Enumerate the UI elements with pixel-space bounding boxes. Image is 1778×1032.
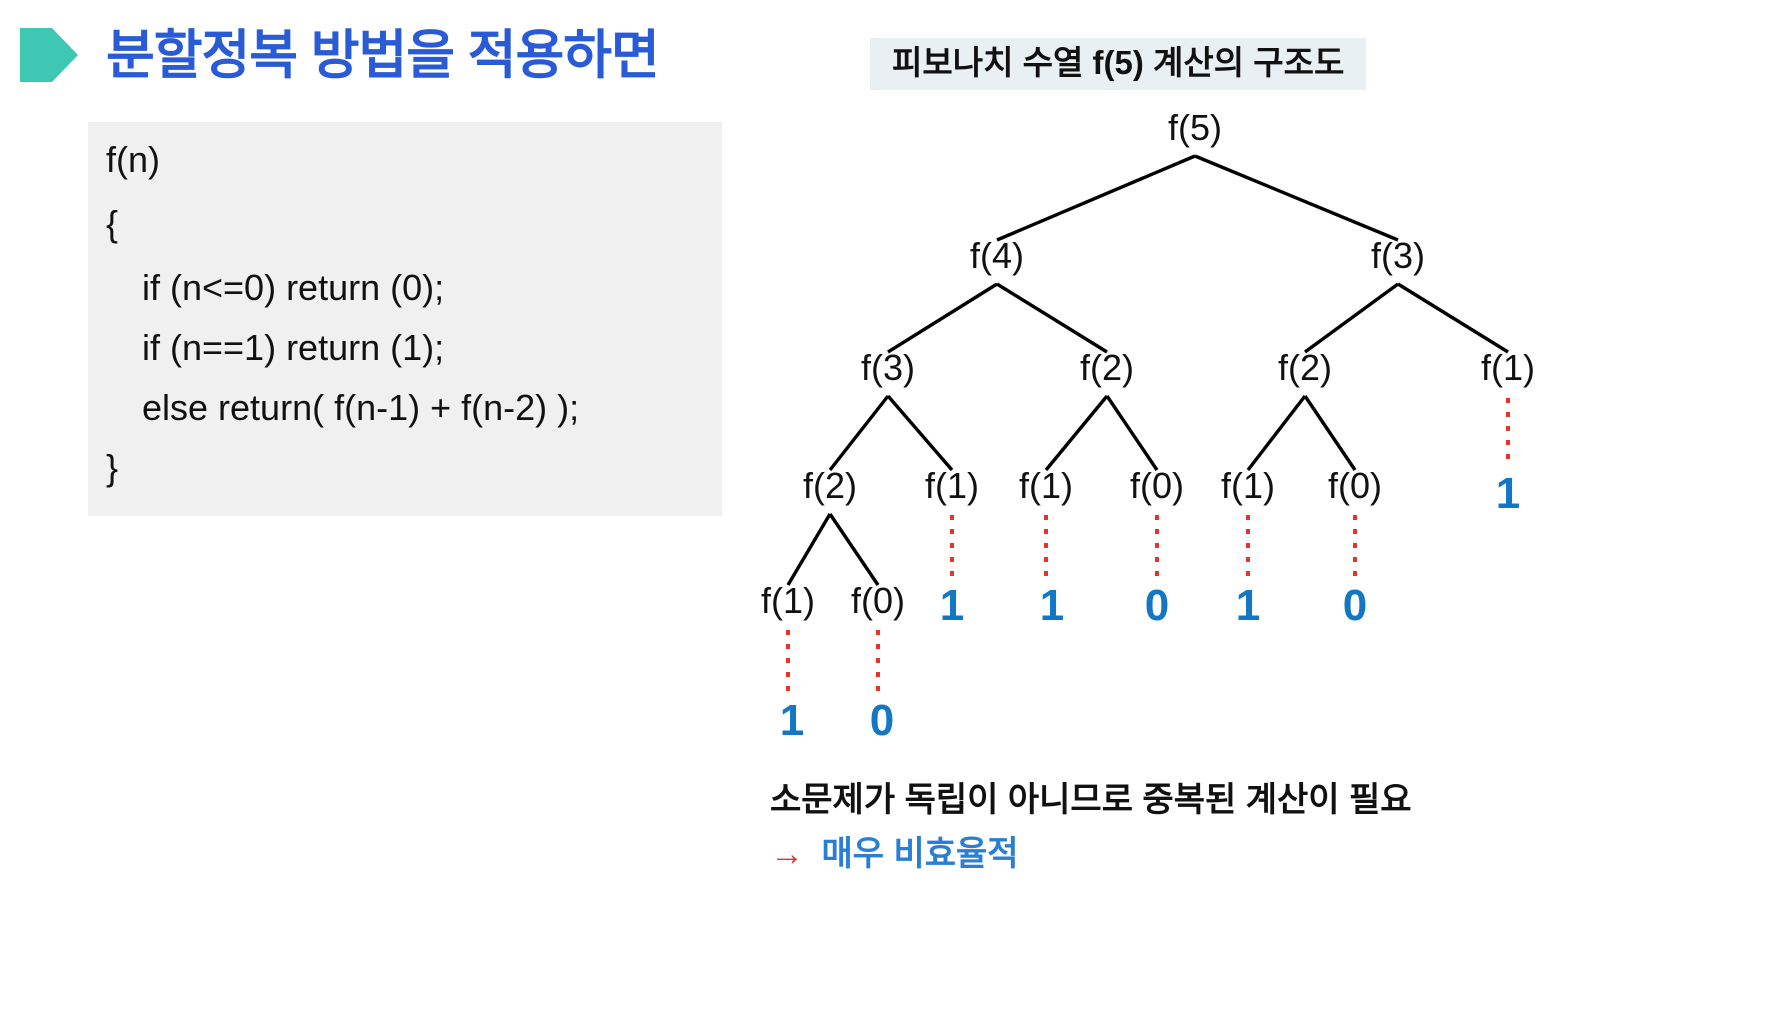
code-block: f(n) { if (n<=0) return (0); if (n==1) r…	[88, 122, 722, 516]
tree-edge	[1305, 396, 1355, 470]
tree-result-value: 1	[1496, 469, 1520, 518]
tree-node-f2: f(2)	[1278, 347, 1332, 388]
caption-line-1: 소문제가 독립이 아니므로 중복된 계산이 필요	[770, 778, 1770, 822]
code-line-2: {	[106, 206, 722, 242]
arrow-icon: →	[770, 835, 804, 873]
tree-node-f3: f(3)	[861, 347, 915, 388]
tree-edge	[830, 514, 878, 585]
tree-node-f1: f(1)	[1221, 465, 1275, 506]
tree-node-f4: f(4)	[970, 235, 1024, 276]
caption-emphasis: 매우 비효율적	[821, 835, 1018, 873]
tree-node-f0: f(0)	[1328, 465, 1382, 506]
tree-edge	[1046, 396, 1107, 470]
tree-result-value: 1	[940, 581, 964, 630]
tree-node-f2: f(2)	[1080, 347, 1134, 388]
tree-edge	[997, 156, 1195, 240]
code-line-1: f(n)	[106, 142, 722, 178]
recursion-tree-diagram: 피보나치 수열 f(5) 계산의 구조도 f(5)f(4)f(3)f(3)f(2…	[740, 0, 1778, 1032]
tree-node-f0: f(0)	[851, 580, 905, 621]
tree-result-value: 0	[1145, 581, 1169, 630]
tree-edge	[888, 396, 952, 470]
caption-line-2: → 매우 비효율적	[770, 832, 1770, 876]
tree-edge	[1195, 156, 1398, 240]
code-line-3: if (n<=0) return (0);	[106, 270, 722, 306]
tree-edge	[1248, 396, 1305, 470]
tree-dotted-line-layer	[788, 398, 1508, 695]
code-line-6: }	[106, 450, 722, 486]
tree-node-f3: f(3)	[1371, 235, 1425, 276]
tree-result-value: 0	[1343, 581, 1367, 630]
tree-result-value: 0	[870, 696, 894, 745]
recursion-tree-svg: f(5)f(4)f(3)f(3)f(2)f(2)f(1)f(2)f(1)f(1)…	[740, 0, 1778, 800]
tree-node-f1: f(1)	[761, 580, 815, 621]
tree-node-f1: f(1)	[925, 465, 979, 506]
pennant-arrow-icon	[18, 25, 80, 85]
tree-result-value: 1	[1040, 581, 1064, 630]
tree-node-f2: f(2)	[803, 465, 857, 506]
tree-node-layer: f(5)f(4)f(3)f(3)f(2)f(2)f(1)f(2)f(1)f(1)…	[761, 107, 1535, 621]
page-title: 분할정복 방법을 적용하면	[106, 29, 659, 82]
code-line-5: else return( f(n-1) + f(n-2) );	[106, 390, 722, 426]
tree-edge	[997, 284, 1107, 352]
tree-node-f5: f(5)	[1168, 107, 1222, 148]
code-line-4: if (n==1) return (1);	[106, 330, 722, 366]
tree-node-f0: f(0)	[1130, 465, 1184, 506]
caption-block: 소문제가 독립이 아니므로 중복된 계산이 필요 → 매우 비효율적	[770, 778, 1770, 876]
tree-result-value: 1	[780, 696, 804, 745]
tree-edge	[830, 396, 888, 470]
tree-edge	[888, 284, 997, 352]
tree-edge	[1107, 396, 1157, 470]
tree-edge	[1305, 284, 1398, 352]
tree-node-f1: f(1)	[1019, 465, 1073, 506]
tree-result-value: 1	[1236, 581, 1260, 630]
tree-node-f1: f(1)	[1481, 347, 1535, 388]
tree-edge	[788, 514, 830, 585]
tree-edge	[1398, 284, 1508, 352]
